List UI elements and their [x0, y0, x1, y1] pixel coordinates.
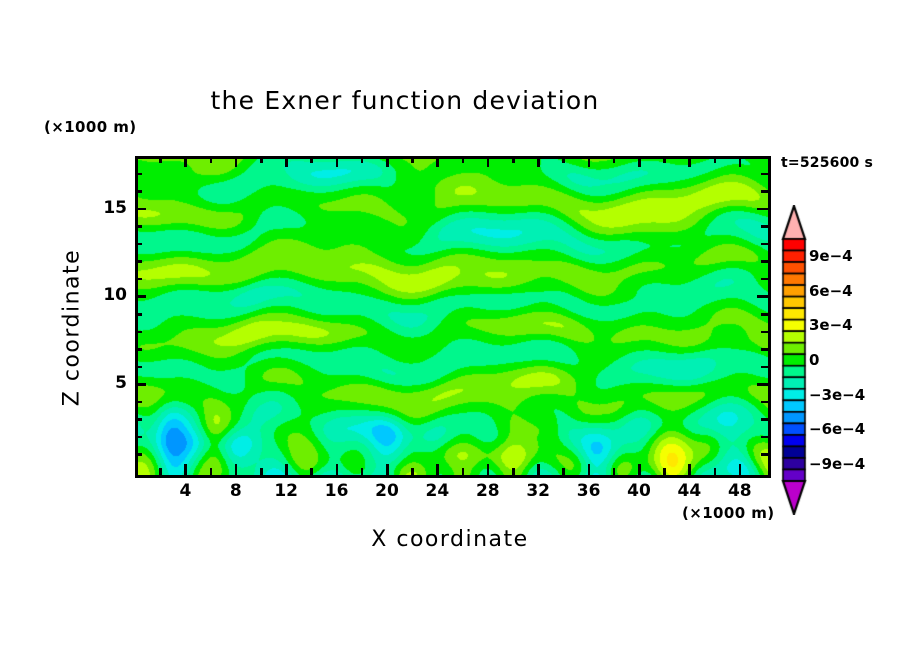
x-axis-tick — [411, 468, 414, 475]
z-axis-tick — [135, 453, 142, 456]
z-axis-tick — [757, 383, 768, 386]
x-axis-tick — [562, 468, 565, 475]
x-axis-tick — [613, 468, 616, 475]
x-axis-tick — [688, 464, 691, 475]
x-axis-tick — [310, 468, 313, 475]
z-axis-tick — [761, 243, 768, 246]
x-tick-label: 36 — [569, 481, 609, 501]
x-axis-tick — [638, 156, 641, 167]
z-axis-tick — [135, 208, 146, 211]
x-axis-tick — [361, 156, 364, 163]
x-axis-tick — [688, 156, 691, 167]
z-axis-tick — [761, 190, 768, 193]
x-axis-tick — [588, 464, 591, 475]
z-axis-tick — [761, 453, 768, 456]
z-axis-tick — [761, 401, 768, 404]
x-axis-tick — [235, 464, 238, 475]
x-tick-label: 20 — [367, 481, 407, 501]
x-tick-label: 4 — [165, 481, 205, 501]
x-tick-label: 48 — [720, 481, 760, 501]
x-axis-tick — [310, 156, 313, 163]
contour-field-canvas — [138, 159, 768, 475]
z-axis-tick — [761, 331, 768, 334]
z-axis-tick — [757, 208, 768, 211]
x-axis-tick — [436, 464, 439, 475]
z-axis-tick — [135, 313, 142, 316]
z-axis-tick — [761, 436, 768, 439]
x-axis-tick — [462, 468, 465, 475]
x-tick-label: 44 — [669, 481, 709, 501]
x-tick-label: 28 — [468, 481, 508, 501]
z-axis-tick — [135, 260, 142, 263]
x-axis-tick — [487, 156, 490, 167]
x-axis-tick — [361, 468, 364, 475]
z-axis-tick — [135, 278, 142, 281]
timestamp-annotation: t=525600 s — [781, 155, 873, 171]
z-axis-tick — [135, 173, 142, 176]
colorbar-tick-label: 0 — [809, 351, 819, 369]
x-tick-label: 24 — [417, 481, 457, 501]
x-axis-tick — [462, 156, 465, 163]
x-tick-label: 32 — [518, 481, 558, 501]
x-tick-label: 12 — [266, 481, 306, 501]
z-axis-tick — [135, 225, 142, 228]
x-axis-tick — [260, 156, 263, 163]
x-axis-tick — [613, 156, 616, 163]
z-axis-unit-label: (×1000 m) — [44, 118, 136, 136]
x-axis-tick — [436, 156, 439, 167]
x-axis-tick — [336, 464, 339, 475]
z-axis-tick — [761, 418, 768, 421]
y-axis-title: Z coordinate — [60, 208, 85, 448]
x-axis-tick — [512, 156, 515, 163]
z-axis-tick — [135, 436, 142, 439]
z-axis-tick — [761, 260, 768, 263]
colorbar-tick-label: −3e−4 — [809, 386, 865, 404]
z-axis-tick — [761, 173, 768, 176]
z-axis-tick — [135, 401, 142, 404]
z-axis-tick — [761, 278, 768, 281]
x-axis-tick — [336, 156, 339, 167]
z-axis-tick — [135, 418, 142, 421]
x-axis-tick — [739, 464, 742, 475]
z-tick-label: 10 — [95, 285, 127, 305]
x-axis-tick — [386, 156, 389, 167]
z-axis-tick — [135, 348, 142, 351]
z-tick-label: 15 — [95, 198, 127, 218]
z-axis-tick — [135, 190, 142, 193]
z-axis-tick — [761, 348, 768, 351]
x-axis-title: X coordinate — [135, 527, 765, 552]
colorbar-tick-label: −6e−4 — [809, 420, 865, 438]
x-axis-tick — [159, 468, 162, 475]
colorbar-tick-label: 6e−4 — [809, 282, 853, 300]
x-axis-tick — [537, 464, 540, 475]
z-axis-tick — [757, 295, 768, 298]
z-axis-tick — [761, 313, 768, 316]
x-axis-tick — [714, 156, 717, 163]
x-axis-tick — [260, 468, 263, 475]
x-axis-tick — [210, 156, 213, 163]
z-tick-label: 5 — [95, 373, 127, 393]
x-axis-tick — [285, 464, 288, 475]
x-axis-tick — [184, 464, 187, 475]
colorbar-tick-label: 9e−4 — [809, 247, 853, 265]
x-axis-tick — [235, 156, 238, 167]
z-axis-tick — [135, 243, 142, 246]
x-axis-tick — [386, 464, 389, 475]
x-axis-tick — [714, 468, 717, 475]
z-axis-tick — [135, 331, 142, 334]
x-axis-tick — [663, 468, 666, 475]
x-axis-tick — [512, 468, 515, 475]
contour-plot-area — [135, 156, 771, 478]
x-axis-tick — [285, 156, 288, 167]
z-axis-tick — [135, 366, 142, 369]
x-axis-tick — [537, 156, 540, 167]
x-axis-tick — [562, 156, 565, 163]
z-axis-tick — [135, 295, 146, 298]
z-axis-tick — [135, 383, 146, 386]
x-tick-label: 16 — [317, 481, 357, 501]
colorbar-tick-label: −9e−4 — [809, 455, 865, 473]
x-axis-tick — [638, 464, 641, 475]
colorbar — [781, 205, 807, 515]
x-axis-tick — [159, 156, 162, 163]
x-axis-tick — [411, 156, 414, 163]
x-tick-label: 40 — [619, 481, 659, 501]
x-axis-unit-label: (×1000 m) — [682, 504, 774, 522]
z-axis-tick — [761, 366, 768, 369]
x-axis-tick — [739, 156, 742, 167]
x-axis-tick — [487, 464, 490, 475]
page-title: the Exner function deviation — [0, 86, 857, 115]
colorbar-tick-label: 3e−4 — [809, 316, 853, 334]
x-axis-tick — [184, 156, 187, 167]
z-axis-tick — [761, 225, 768, 228]
x-axis-tick — [210, 468, 213, 475]
x-axis-tick — [663, 156, 666, 163]
x-axis-tick — [588, 156, 591, 167]
x-tick-label: 8 — [216, 481, 256, 501]
